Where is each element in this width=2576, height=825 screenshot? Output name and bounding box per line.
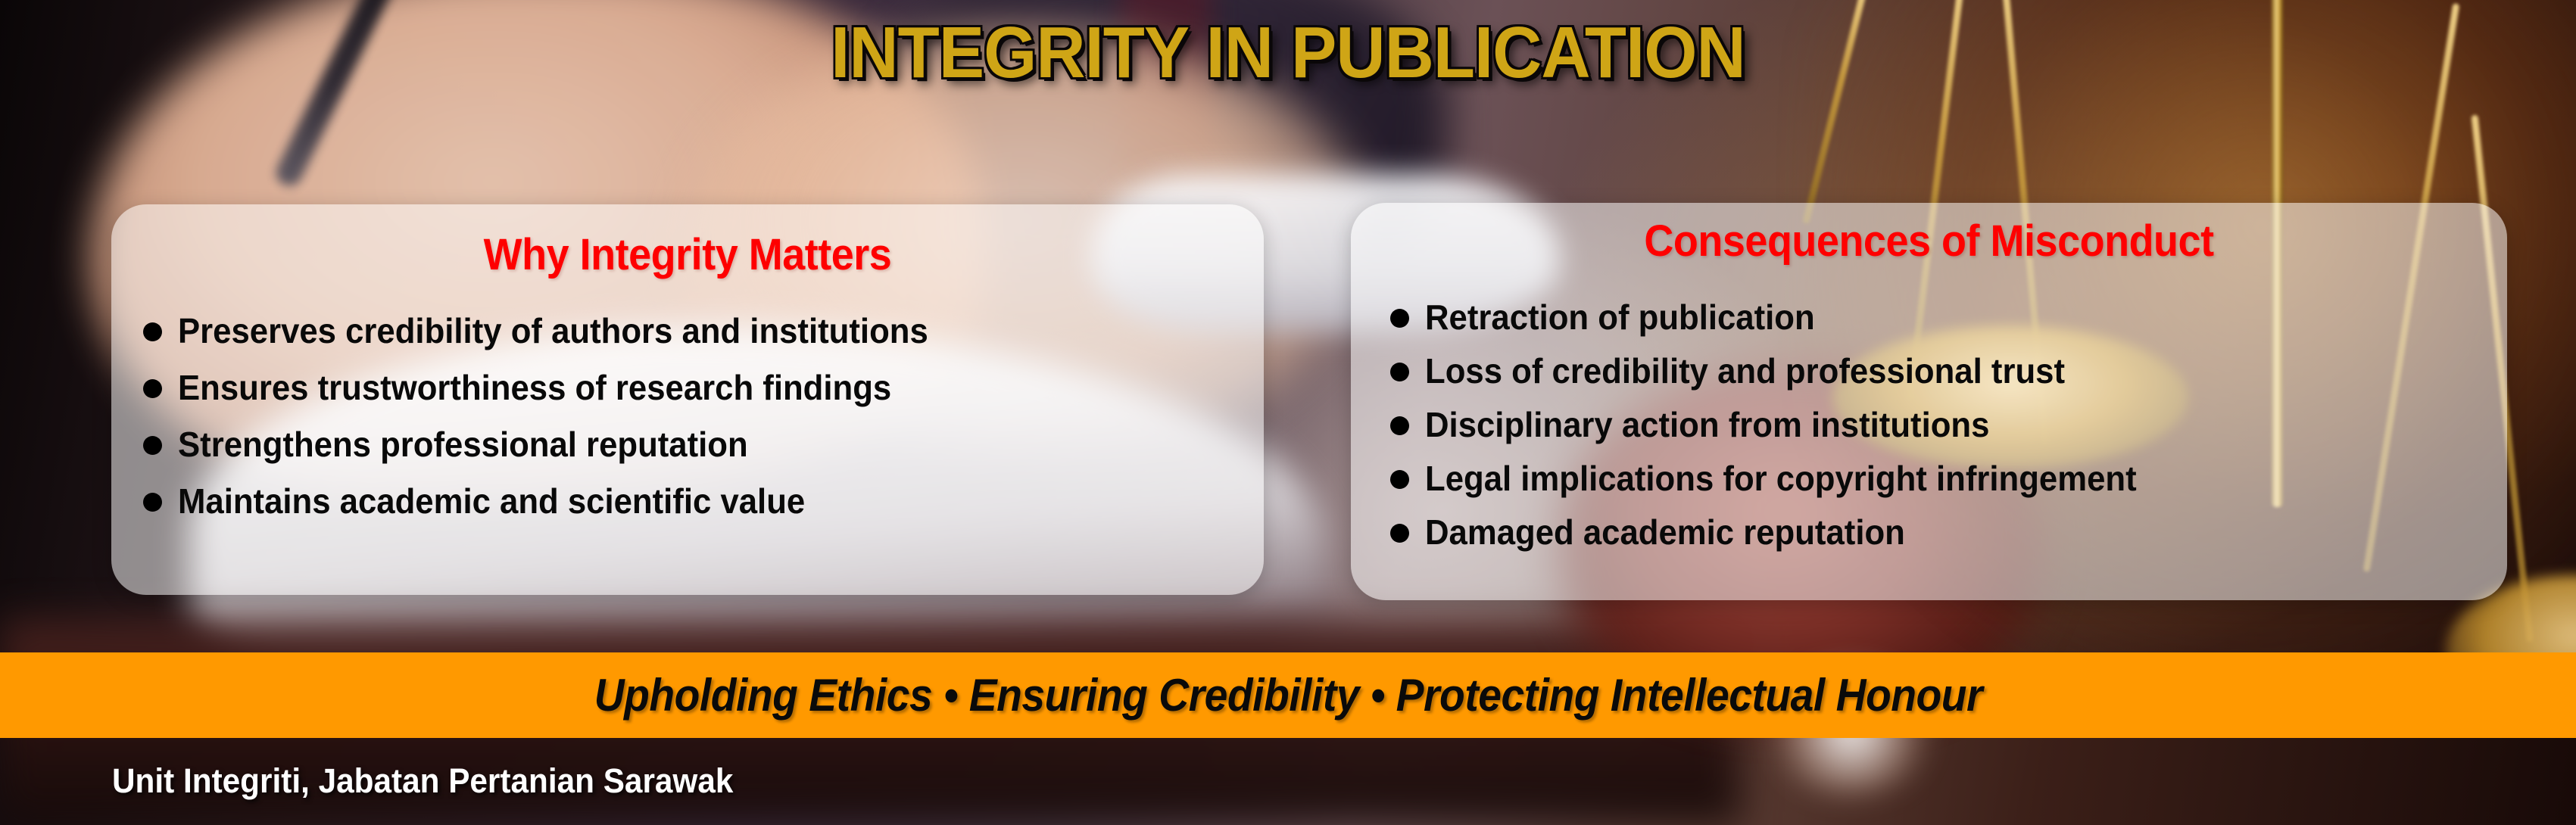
- card-why-integrity-matters: Why Integrity Matters Preserves credibil…: [111, 204, 1264, 595]
- list-item: Ensures trustworthiness of research find…: [143, 370, 1264, 405]
- list-item-label: Retraction of publication: [1425, 300, 1815, 335]
- bullet-dot-icon: [143, 379, 162, 398]
- list-item: Legal implications for copyright infring…: [1390, 461, 2507, 496]
- list-item: Loss of credibility and professional tru…: [1390, 353, 2507, 388]
- list-item-label: Ensures trustworthiness of research find…: [178, 370, 891, 405]
- card-left-bullet-list: Preserves credibility of authors and ins…: [111, 313, 1264, 518]
- list-item-label: Maintains academic and scientific value: [178, 484, 805, 518]
- bullet-dot-icon: [1390, 524, 1409, 543]
- bullet-dot-icon: [143, 493, 162, 512]
- card-consequences-of-misconduct: Consequences of Misconduct Retraction of…: [1351, 203, 2507, 600]
- list-item-label: Legal implications for copyright infring…: [1425, 461, 2137, 496]
- tagline-bar: Upholding Ethics • Ensuring Credibility …: [0, 652, 2576, 738]
- bullet-dot-icon: [1390, 470, 1409, 489]
- list-item-label: Preserves credibility of authors and ins…: [178, 313, 928, 348]
- list-item-label: Damaged academic reputation: [1425, 515, 1905, 549]
- list-item: Disciplinary action from institutions: [1390, 407, 2507, 442]
- card-right-heading: Consequences of Misconduct: [1391, 219, 2466, 263]
- list-item-label: Disciplinary action from institutions: [1425, 407, 1989, 442]
- bullet-dot-icon: [1390, 309, 1409, 328]
- list-item: Damaged academic reputation: [1390, 515, 2507, 549]
- card-right-bullet-list: Retraction of publication Loss of credib…: [1351, 300, 2507, 549]
- list-item-label: Loss of credibility and professional tru…: [1425, 353, 2065, 388]
- bullet-dot-icon: [143, 322, 162, 341]
- list-item: Retraction of publication: [1390, 300, 2507, 335]
- bullet-dot-icon: [1390, 416, 1409, 435]
- poster-canvas: INTEGRITY IN PUBLICATION Why Integrity M…: [0, 0, 2576, 825]
- card-left-heading: Why Integrity Matters: [151, 233, 1223, 277]
- list-item: Maintains academic and scientific value: [143, 484, 1264, 518]
- tagline-text: Upholding Ethics • Ensuring Credibility …: [594, 669, 1982, 721]
- list-item: Strengthens professional reputation: [143, 427, 1264, 462]
- list-item-label: Strengthens professional reputation: [178, 427, 748, 462]
- bullet-dot-icon: [1390, 363, 1409, 381]
- footer-organisation: Unit Integriti, Jabatan Pertanian Sarawa…: [112, 761, 733, 801]
- bullet-dot-icon: [143, 436, 162, 455]
- list-item: Preserves credibility of authors and ins…: [143, 313, 1264, 348]
- page-title: INTEGRITY IN PUBLICATION: [77, 17, 2499, 89]
